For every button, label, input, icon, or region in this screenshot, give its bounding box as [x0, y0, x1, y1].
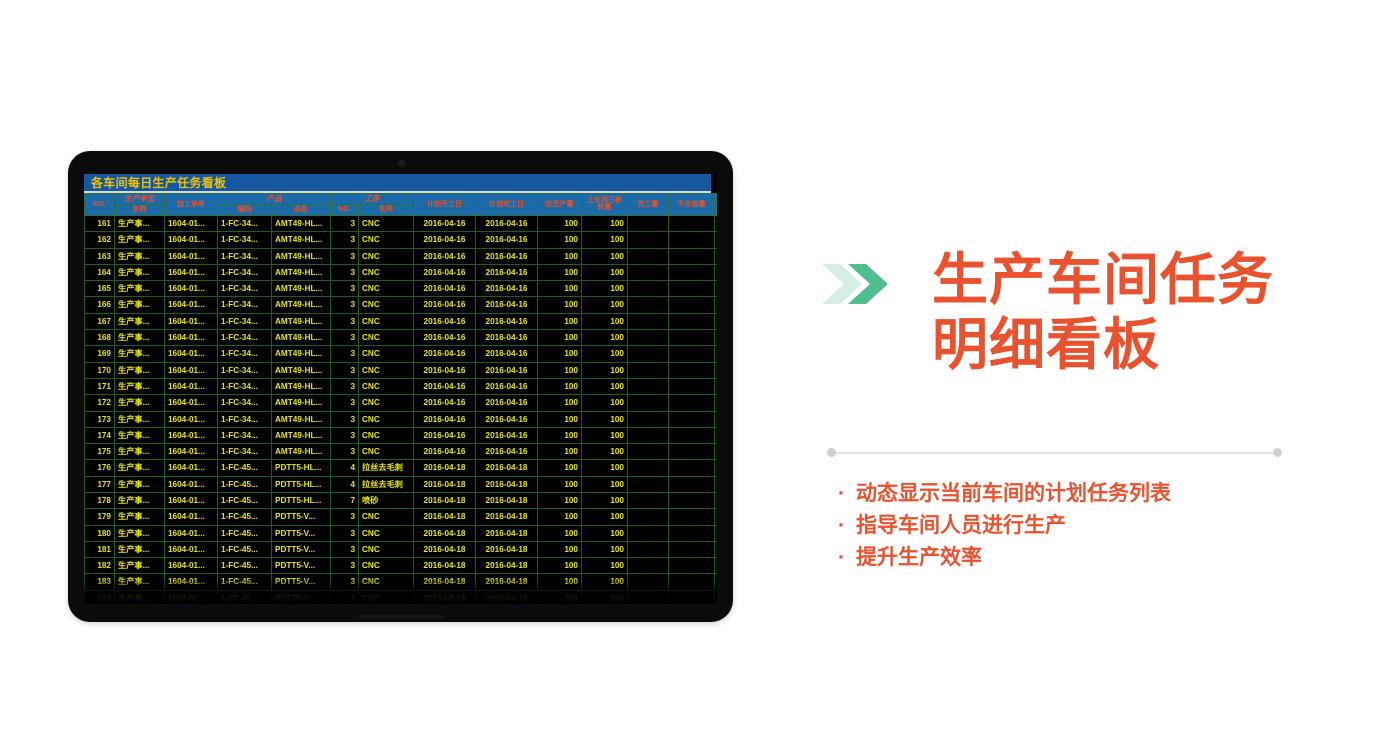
- cell-transferred-qty: 100: [582, 297, 628, 313]
- cell-no: 170: [85, 362, 115, 378]
- header-row-group: NO. 生产单位 加工单号 产品 工序 计划开工日 计划完工日 应生产量 上车间…: [85, 194, 718, 205]
- cell-no: 169: [85, 346, 115, 362]
- cell-operation-no: 3: [331, 444, 359, 460]
- cell-order-no: 1604-01...: [165, 574, 218, 590]
- cell-operation-name: CNC: [359, 313, 414, 329]
- cell-plan-end: 2016-04-18: [476, 460, 538, 476]
- cell-required-qty: 100: [538, 362, 582, 378]
- cell-operation-name: 喷砂: [359, 492, 414, 508]
- col-header-no[interactable]: NO.: [85, 194, 115, 216]
- cell-product-code: 1-FC-45...: [218, 541, 272, 557]
- cell-defect-qty: [669, 330, 715, 346]
- cell-no: 173: [85, 411, 115, 427]
- cell-defect-qty: [669, 215, 715, 231]
- cell-plan-start: 2016-04-18: [414, 574, 476, 590]
- cell-completed-qty: [628, 590, 669, 604]
- cell-product-name: AMT49-HL...: [272, 281, 331, 297]
- cell-operation-name: CNC: [359, 427, 414, 443]
- cell-plan-end: 2016-04-16: [476, 378, 538, 394]
- cell-defect-qty: [669, 362, 715, 378]
- cell-plan-start: 2016-04-16: [414, 215, 476, 231]
- cell-plan-end: 2016-04-16: [476, 232, 538, 248]
- tablet-device: 各车间每日生产任务看板 NO. 生产单位 加工单号 产品 工序 计划开工日: [68, 151, 733, 622]
- cell-plan-start: 2016-04-16: [414, 313, 476, 329]
- cell-plan-start: 2016-04-16: [414, 297, 476, 313]
- cell-order-no: 1604-01...: [165, 330, 218, 346]
- table-row[interactable]: 175生产事...1604-01...1-FC-34...AMT49-HL...…: [85, 444, 718, 460]
- cell-product-name: AMT49-HL...: [272, 248, 331, 264]
- cell-transferred-qty: 100: [582, 232, 628, 248]
- cell-plan-end: 2016-04-16: [476, 215, 538, 231]
- feature-bullet-text: 动态显示当前车间的计划任务列表: [856, 482, 1171, 505]
- cell-remaining-qty: 100: [715, 574, 718, 590]
- cell-order-no: 1604-01...: [165, 297, 218, 313]
- tablet-screen: 各车间每日生产任务看板 NO. 生产单位 加工单号 产品 工序 计划开工日: [84, 174, 717, 604]
- cell-no: 175: [85, 444, 115, 460]
- page-title: 生产车间任务明细看板: [932, 248, 1322, 378]
- cell-required-qty: 100: [538, 330, 582, 346]
- cell-completed-qty: [628, 476, 669, 492]
- cell-required-qty: 100: [538, 444, 582, 460]
- cell-no: 178: [85, 492, 115, 508]
- cell-plan-start: 2016-04-16: [414, 248, 476, 264]
- cell-product-code: 1-FC-34...: [218, 264, 272, 280]
- table-body: 161生产事...1604-01...1-FC-34...AMT49-HL...…: [85, 215, 718, 604]
- cell-product-code: 1-FC-34...: [218, 215, 272, 231]
- cell-plan-end: 2016-04-16: [476, 248, 538, 264]
- cell-product-name: AMT49-HL...: [272, 444, 331, 460]
- cell-product-name: AMT49-HL...: [272, 215, 331, 231]
- cell-plan-end: 2016-04-16: [476, 313, 538, 329]
- cell-plan-end: 2016-04-16: [476, 427, 538, 443]
- cell-plan-start: 2016-04-16: [414, 330, 476, 346]
- table-row[interactable]: 170生产事...1604-01...1-FC-34...AMT49-HL...…: [85, 362, 718, 378]
- cell-product-code: 1-FC-34...: [218, 297, 272, 313]
- cell-plan-start: 2016-04-16: [414, 346, 476, 362]
- cell-operation-no: 3: [331, 215, 359, 231]
- cell-product-name: AMT49-HL...: [272, 395, 331, 411]
- cell-product-code: 1-FC-45...: [218, 558, 272, 574]
- cell-operation-no: 3: [331, 313, 359, 329]
- cell-operation-no: 3: [331, 248, 359, 264]
- cell-order-no: 1604-01...: [165, 362, 218, 378]
- col-header-unit-name[interactable]: 名称: [115, 205, 165, 216]
- col-header-defect-qty[interactable]: 不合格量: [669, 194, 715, 216]
- cell-product-code: 1-FC-45...: [218, 460, 272, 476]
- table-row[interactable]: 176生产事...1604-01...1-FC-45...PDTT5-HL...…: [85, 460, 718, 476]
- cell-transferred-qty: 100: [582, 215, 628, 231]
- col-header-plan-start[interactable]: 计划开工日: [414, 194, 476, 216]
- cell-product-name: AMT49-HL...: [272, 313, 331, 329]
- cell-order-no: 1604-01...: [165, 541, 218, 557]
- cell-defect-qty: [669, 541, 715, 557]
- cell-plan-end: 2016-04-18: [476, 590, 538, 604]
- cell-defect-qty: [669, 444, 715, 460]
- cell-required-qty: 100: [538, 509, 582, 525]
- cell-remaining-qty: 100: [715, 281, 718, 297]
- col-header-operation-group: 工序: [331, 194, 414, 205]
- cell-completed-qty: [628, 215, 669, 231]
- table-row[interactable]: 182生产事...1604-01...1-FC-45...PDTT5-V...3…: [85, 558, 718, 574]
- cell-defect-qty: [669, 574, 715, 590]
- cell-no: 162: [85, 232, 115, 248]
- cell-operation-no: 3: [331, 395, 359, 411]
- cell-unit-name: 生产事...: [115, 264, 165, 280]
- cell-unit-name: 生产事...: [115, 509, 165, 525]
- cell-no: 168: [85, 330, 115, 346]
- cell-unit-name: 生产事...: [115, 362, 165, 378]
- cell-no: 184: [85, 590, 115, 604]
- cell-unit-name: 生产事...: [115, 378, 165, 394]
- cell-completed-qty: [628, 574, 669, 590]
- cell-plan-start: 2016-04-16: [414, 411, 476, 427]
- cell-plan-end: 2016-04-18: [476, 476, 538, 492]
- cell-remaining-qty: 100: [715, 525, 718, 541]
- cell-defect-qty: [669, 378, 715, 394]
- cell-no: 174: [85, 427, 115, 443]
- cell-transferred-qty: 100: [582, 476, 628, 492]
- cell-transferred-qty: 100: [582, 248, 628, 264]
- cell-operation-no: 3: [331, 574, 359, 590]
- cell-order-no: 1604-01...: [165, 378, 218, 394]
- col-header-required-qty[interactable]: 应生产量: [538, 194, 582, 216]
- cell-plan-end: 2016-04-16: [476, 330, 538, 346]
- cell-operation-no: 3: [331, 232, 359, 248]
- col-header-product-name[interactable]: 品名: [272, 205, 331, 216]
- cell-transferred-qty: 100: [582, 574, 628, 590]
- cell-order-no: 1604-01...: [165, 395, 218, 411]
- cell-defect-qty: [669, 509, 715, 525]
- cell-remaining-qty: 100: [715, 313, 718, 329]
- cell-remaining-qty: 100: [715, 590, 718, 604]
- cell-transferred-qty: 100: [582, 509, 628, 525]
- cell-required-qty: 100: [538, 346, 582, 362]
- cell-order-no: 1604-01...: [165, 590, 218, 604]
- cell-order-no: 1604-01...: [165, 232, 218, 248]
- cell-product-name: PDTT5-HL...: [272, 460, 331, 476]
- cell-remaining-qty: 100: [715, 346, 718, 362]
- cell-unit-name: 生产事...: [115, 460, 165, 476]
- cell-operation-name: CNC: [359, 541, 414, 557]
- double-chevron-right-icon: [822, 262, 890, 311]
- cell-unit-name: 生产事...: [115, 558, 165, 574]
- cell-plan-end: 2016-04-16: [476, 264, 538, 280]
- col-header-unit-group: 生产单位: [115, 194, 165, 205]
- table-row[interactable]: 183生产事...1604-01...1-FC-45...PDTT5-V...3…: [85, 574, 718, 590]
- cell-transferred-qty: 100: [582, 346, 628, 362]
- cell-plan-start: 2016-04-18: [414, 558, 476, 574]
- home-indicator: [358, 615, 444, 618]
- feature-bullet: ·提升生产效率: [838, 542, 1308, 574]
- table-row[interactable]: 177生产事...1604-01...1-FC-45...PDTT5-HL...…: [85, 476, 718, 492]
- cell-plan-start: 2016-04-18: [414, 525, 476, 541]
- cell-operation-name: CNC: [359, 330, 414, 346]
- cell-operation-name: CNC: [359, 574, 414, 590]
- cell-unit-name: 生产事...: [115, 297, 165, 313]
- cell-completed-qty: [628, 281, 669, 297]
- table-row[interactable]: 168生产事...1604-01...1-FC-34...AMT49-HL...…: [85, 330, 718, 346]
- cell-defect-qty: [669, 460, 715, 476]
- table-row[interactable]: 179生产事...1604-01...1-FC-45...PDTT5-V...3…: [85, 509, 718, 525]
- col-header-operation-name[interactable]: 名称: [359, 205, 414, 216]
- cell-required-qty: 100: [538, 248, 582, 264]
- cell-remaining-qty: 100: [715, 509, 718, 525]
- cell-operation-name: CNC: [359, 411, 414, 427]
- cell-unit-name: 生产事...: [115, 346, 165, 362]
- cell-plan-start: 2016-04-18: [414, 460, 476, 476]
- cell-operation-no: 3: [331, 378, 359, 394]
- cell-completed-qty: [628, 264, 669, 280]
- col-header-completed-qty[interactable]: 完工量: [628, 194, 669, 216]
- table-row[interactable]: 184生产事...1604-01...1-FC-45...PDTT5-V...3…: [85, 590, 718, 604]
- table-row[interactable]: 172生产事...1604-01...1-FC-34...AMT49-HL...…: [85, 395, 718, 411]
- cell-operation-name: 拉丝去毛刺: [359, 476, 414, 492]
- cell-transferred-qty: 100: [582, 281, 628, 297]
- feature-bullet: ·指导车间人员进行生产: [838, 510, 1308, 542]
- cell-completed-qty: [628, 297, 669, 313]
- cell-no: 181: [85, 541, 115, 557]
- table-row[interactable]: 181生产事...1604-01...1-FC-45...PDTT5-V...3…: [85, 541, 718, 557]
- cell-remaining-qty: 100: [715, 476, 718, 492]
- cell-no: 177: [85, 476, 115, 492]
- cell-operation-no: 3: [331, 411, 359, 427]
- cell-unit-name: 生产事...: [115, 574, 165, 590]
- table-row[interactable]: 173生产事...1604-01...1-FC-34...AMT49-HL...…: [85, 411, 718, 427]
- cell-no: 172: [85, 395, 115, 411]
- feature-bullet-text: 提升生产效率: [856, 546, 982, 569]
- cell-plan-end: 2016-04-18: [476, 492, 538, 508]
- cell-unit-name: 生产事...: [115, 411, 165, 427]
- cell-unit-name: 生产事...: [115, 492, 165, 508]
- table-row[interactable]: 164生产事...1604-01...1-FC-34...AMT49-HL...…: [85, 264, 718, 280]
- cell-completed-qty: [628, 460, 669, 476]
- cell-product-code: 1-FC-34...: [218, 444, 272, 460]
- cell-completed-qty: [628, 232, 669, 248]
- cell-completed-qty: [628, 541, 669, 557]
- bullet-marker-icon: ·: [838, 542, 856, 574]
- cell-defect-qty: [669, 411, 715, 427]
- cell-plan-end: 2016-04-18: [476, 558, 538, 574]
- cell-completed-qty: [628, 346, 669, 362]
- cell-product-name: AMT49-HL...: [272, 346, 331, 362]
- cell-order-no: 1604-01...: [165, 509, 218, 525]
- table-row[interactable]: 163生产事...1604-01...1-FC-34...AMT49-HL...…: [85, 248, 718, 264]
- cell-plan-end: 2016-04-16: [476, 346, 538, 362]
- cell-no: 176: [85, 460, 115, 476]
- section-divider: [827, 448, 1282, 457]
- cell-completed-qty: [628, 558, 669, 574]
- cell-product-code: 1-FC-45...: [218, 590, 272, 604]
- cell-no: 183: [85, 574, 115, 590]
- cell-order-no: 1604-01...: [165, 444, 218, 460]
- cell-operation-name: CNC: [359, 297, 414, 313]
- cell-plan-start: 2016-04-16: [414, 395, 476, 411]
- col-header-plan-end[interactable]: 计划完工日: [476, 194, 538, 216]
- feature-bullet-text: 指导车间人员进行生产: [856, 514, 1066, 537]
- col-header-order-no[interactable]: 加工单号: [165, 194, 218, 216]
- cell-operation-name: 拉丝去毛刺: [359, 460, 414, 476]
- cell-completed-qty: [628, 509, 669, 525]
- cell-completed-qty: [628, 330, 669, 346]
- col-header-product-group: 产品: [218, 194, 331, 205]
- cell-transferred-qty: 100: [582, 427, 628, 443]
- table-row[interactable]: 178生产事...1604-01...1-FC-45...PDTT5-HL...…: [85, 492, 718, 508]
- cell-product-code: 1-FC-34...: [218, 395, 272, 411]
- cell-product-name: PDTT5-HL...: [272, 476, 331, 492]
- table-row[interactable]: 180生产事...1604-01...1-FC-45...PDTT5-V...3…: [85, 525, 718, 541]
- cell-order-no: 1604-01...: [165, 411, 218, 427]
- cell-completed-qty: [628, 444, 669, 460]
- cell-no: 179: [85, 509, 115, 525]
- cell-transferred-qty: 100: [582, 541, 628, 557]
- cell-plan-start: 2016-04-16: [414, 362, 476, 378]
- cell-required-qty: 100: [538, 281, 582, 297]
- cell-defect-qty: [669, 232, 715, 248]
- table-row[interactable]: 174生产事...1604-01...1-FC-34...AMT49-HL...…: [85, 427, 718, 443]
- cell-operation-name: CNC: [359, 232, 414, 248]
- cell-required-qty: 100: [538, 411, 582, 427]
- cell-completed-qty: [628, 378, 669, 394]
- cell-no: 180: [85, 525, 115, 541]
- cell-defect-qty: [669, 395, 715, 411]
- cell-order-no: 1604-01...: [165, 476, 218, 492]
- table-row[interactable]: 165生产事...1604-01...1-FC-34...AMT49-HL...…: [85, 281, 718, 297]
- cell-operation-name: CNC: [359, 264, 414, 280]
- cell-completed-qty: [628, 411, 669, 427]
- production-task-table: NO. 生产单位 加工单号 产品 工序 计划开工日 计划完工日 应生产量 上车间…: [84, 193, 717, 604]
- cell-product-code: 1-FC-45...: [218, 476, 272, 492]
- cell-product-name: AMT49-HL...: [272, 264, 331, 280]
- cell-plan-start: 2016-04-16: [414, 232, 476, 248]
- table-row[interactable]: 162生产事...1604-01...1-FC-34...AMT49-HL...…: [85, 232, 718, 248]
- cell-defect-qty: [669, 264, 715, 280]
- feature-bullet-list: ·动态显示当前车间的计划任务列表·指导车间人员进行生产·提升生产效率: [838, 478, 1308, 574]
- cell-required-qty: 100: [538, 460, 582, 476]
- cell-no: 165: [85, 281, 115, 297]
- cell-plan-end: 2016-04-18: [476, 525, 538, 541]
- table-row[interactable]: 161生产事...1604-01...1-FC-34...AMT49-HL...…: [85, 215, 718, 231]
- table-row[interactable]: 167生产事...1604-01...1-FC-34...AMT49-HL...…: [85, 313, 718, 329]
- cell-order-no: 1604-01...: [165, 427, 218, 443]
- cell-product-name: PDTT5-V...: [272, 590, 331, 604]
- cell-operation-no: 3: [331, 541, 359, 557]
- divider-dot-left: [827, 448, 836, 457]
- cell-plan-end: 2016-04-16: [476, 444, 538, 460]
- cell-required-qty: 100: [538, 297, 582, 313]
- cell-required-qty: 100: [538, 590, 582, 604]
- table-row[interactable]: 171生产事...1604-01...1-FC-34...AMT49-HL...…: [85, 378, 718, 394]
- cell-no: 167: [85, 313, 115, 329]
- cell-required-qty: 100: [538, 395, 582, 411]
- cell-order-no: 1604-01...: [165, 264, 218, 280]
- cell-operation-name: CNC: [359, 248, 414, 264]
- col-header-product-code[interactable]: 编码: [218, 205, 272, 216]
- cell-operation-no: 7: [331, 492, 359, 508]
- cell-defect-qty: [669, 248, 715, 264]
- cell-required-qty: 100: [538, 313, 582, 329]
- cell-no: 161: [85, 215, 115, 231]
- bullet-marker-icon: ·: [838, 478, 856, 510]
- cell-plan-start: 2016-04-18: [414, 476, 476, 492]
- cell-transferred-qty: 100: [582, 460, 628, 476]
- cell-operation-no: 3: [331, 264, 359, 280]
- cell-defect-qty: [669, 492, 715, 508]
- cell-unit-name: 生产事...: [115, 444, 165, 460]
- col-header-transferred-qty[interactable]: 上车间已移转量: [582, 194, 628, 216]
- cell-product-name: PDTT5-HL...: [272, 492, 331, 508]
- cell-product-name: AMT49-HL...: [272, 232, 331, 248]
- cell-defect-qty: [669, 346, 715, 362]
- cell-product-code: 1-FC-34...: [218, 330, 272, 346]
- table-row[interactable]: 169生产事...1604-01...1-FC-34...AMT49-HL...…: [85, 346, 718, 362]
- cell-product-code: 1-FC-34...: [218, 346, 272, 362]
- cell-product-code: 1-FC-45...: [218, 509, 272, 525]
- cell-transferred-qty: 100: [582, 395, 628, 411]
- cell-plan-end: 2016-04-16: [476, 362, 538, 378]
- info-panel: 生产车间任务明细看板 ·动态显示当前车间的计划任务列表·指导车间人员进行生产·提…: [822, 248, 1322, 378]
- cell-plan-start: 2016-04-18: [414, 590, 476, 604]
- cell-required-qty: 100: [538, 541, 582, 557]
- kanban-app: 各车间每日生产任务看板 NO. 生产单位 加工单号 产品 工序 计划开工日: [84, 174, 711, 604]
- cell-order-no: 1604-01...: [165, 346, 218, 362]
- cell-operation-name: CNC: [359, 378, 414, 394]
- cell-required-qty: 100: [538, 476, 582, 492]
- table-row[interactable]: 166生产事...1604-01...1-FC-34...AMT49-HL...…: [85, 297, 718, 313]
- cell-remaining-qty: 100: [715, 411, 718, 427]
- cell-operation-name: CNC: [359, 525, 414, 541]
- cell-product-name: AMT49-HL...: [272, 330, 331, 346]
- cell-remaining-qty: 100: [715, 330, 718, 346]
- divider-line: [836, 452, 1273, 454]
- cell-unit-name: 生产事...: [115, 590, 165, 604]
- cell-plan-start: 2016-04-16: [414, 378, 476, 394]
- col-header-operation-no[interactable]: NO.: [331, 205, 359, 216]
- cell-no: 164: [85, 264, 115, 280]
- cell-order-no: 1604-01...: [165, 248, 218, 264]
- cell-defect-qty: [669, 297, 715, 313]
- cell-operation-no: 3: [331, 346, 359, 362]
- cell-no: 166: [85, 297, 115, 313]
- cell-operation-name: CNC: [359, 346, 414, 362]
- cell-operation-no: 3: [331, 297, 359, 313]
- cell-order-no: 1604-01...: [165, 558, 218, 574]
- camera-dot-icon: [397, 159, 406, 168]
- cell-defect-qty: [669, 590, 715, 604]
- cell-plan-end: 2016-04-16: [476, 411, 538, 427]
- cell-remaining-qty: 100: [715, 248, 718, 264]
- cell-defect-qty: [669, 525, 715, 541]
- kanban-window-title: 各车间每日生产任务看板: [84, 174, 711, 193]
- cell-operation-name: CNC: [359, 590, 414, 604]
- cell-operation-no: 3: [331, 525, 359, 541]
- cell-product-code: 1-FC-34...: [218, 313, 272, 329]
- bullet-marker-icon: ·: [838, 510, 856, 542]
- cell-operation-name: CNC: [359, 558, 414, 574]
- cell-required-qty: 100: [538, 378, 582, 394]
- cell-remaining-qty: 100: [715, 541, 718, 557]
- cell-operation-no: 3: [331, 590, 359, 604]
- cell-product-name: AMT49-HL...: [272, 362, 331, 378]
- cell-defect-qty: [669, 427, 715, 443]
- cell-transferred-qty: 100: [582, 590, 628, 604]
- cell-required-qty: 100: [538, 264, 582, 280]
- col-header-remaining-qty[interactable]: 未完成量: [715, 194, 718, 216]
- cell-product-code: 1-FC-34...: [218, 232, 272, 248]
- cell-remaining-qty: 100: [715, 460, 718, 476]
- cell-product-name: PDTT5-V...: [272, 525, 331, 541]
- cell-unit-name: 生产事...: [115, 395, 165, 411]
- cell-plan-start: 2016-04-16: [414, 281, 476, 297]
